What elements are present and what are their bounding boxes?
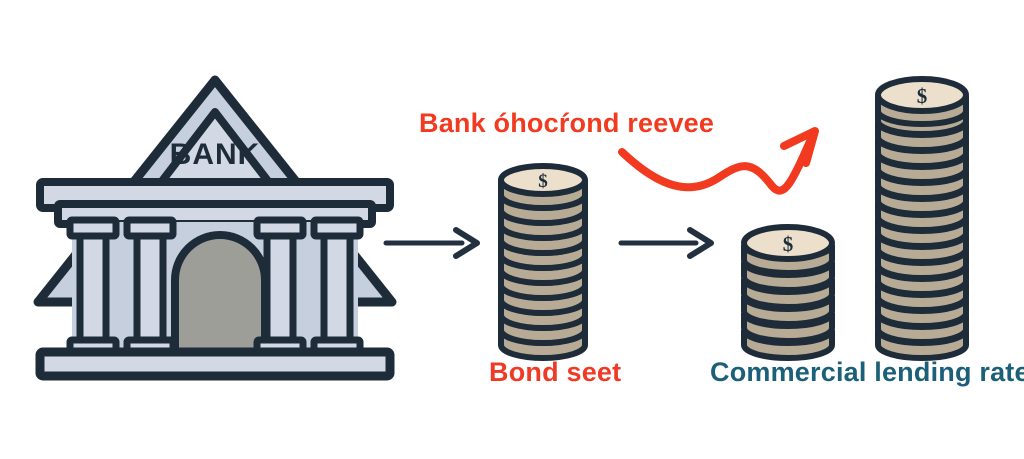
arrow-rising-trend — [622, 131, 815, 191]
bank-column-4-shaft — [324, 232, 350, 344]
dollar-icon: $ — [917, 84, 928, 108]
bank-column-1-capital — [70, 220, 116, 236]
bank-column-4-capital — [314, 220, 360, 236]
bank-building-icon: BANK — [38, 80, 392, 376]
label-bond-sheet: Bond seet — [489, 357, 621, 388]
label-bank-bond-reserve: Bank óhocŕond reevee — [419, 108, 714, 139]
bank-arched-door — [175, 235, 265, 356]
bank-column-2-capital — [127, 220, 173, 236]
bank-base-plinth — [40, 352, 390, 376]
middle-coin-stack: $ — [501, 166, 585, 358]
label-commercial-lending-rates: Commercial lending rates — [710, 357, 1024, 388]
diagram-graphics: BANK $ — [0, 0, 1024, 459]
bank-column-1-shaft — [80, 232, 106, 344]
arrow-bonds-to-lending — [621, 230, 711, 256]
bank-column-2-shaft — [137, 232, 163, 344]
bank-column-3-shaft — [267, 232, 293, 344]
bank-column-3-capital — [257, 220, 303, 236]
diagram-canvas: BANK $ — [0, 0, 1024, 459]
dollar-icon: $ — [538, 171, 548, 192]
arrow-bank-to-bonds — [386, 230, 477, 256]
small-coin-stack: $ — [744, 227, 832, 358]
dollar-icon: $ — [783, 232, 794, 256]
tall-coin-stack: $ — [878, 79, 966, 358]
bank-sign-text: BANK — [170, 138, 261, 171]
